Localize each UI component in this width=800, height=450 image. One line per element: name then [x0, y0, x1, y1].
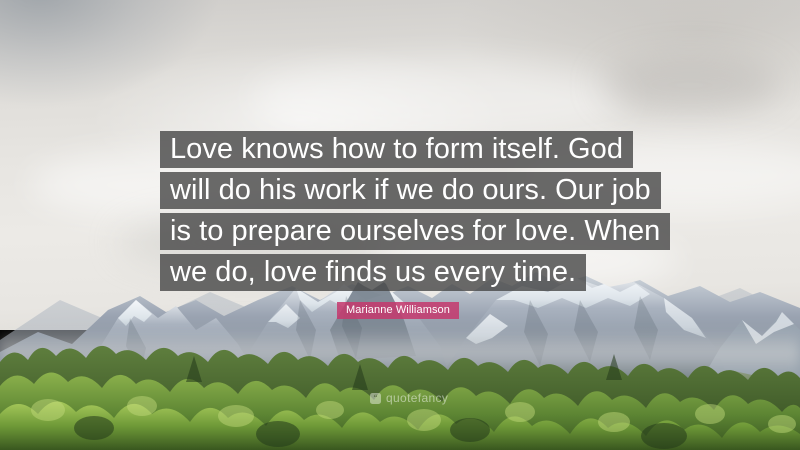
quote-text-block: Love knows how to form itself. God will … — [160, 131, 642, 295]
quote-line: we do, love finds us every time. — [160, 254, 586, 291]
watermark-brand: quotefancy — [386, 391, 448, 405]
watermark: “ quotefancy — [370, 391, 448, 405]
quote-line: will do his work if we do ours. Our job — [160, 172, 661, 209]
quote-poster: Love knows how to form itself. God will … — [0, 0, 800, 450]
quote-line: Love knows how to form itself. God — [160, 131, 633, 168]
forest-canopy — [0, 310, 800, 450]
author-attribution: Marianne Williamson — [337, 302, 459, 319]
quote-line: is to prepare ourselves for love. When — [160, 213, 670, 250]
quote-mark-icon: “ — [370, 393, 381, 404]
